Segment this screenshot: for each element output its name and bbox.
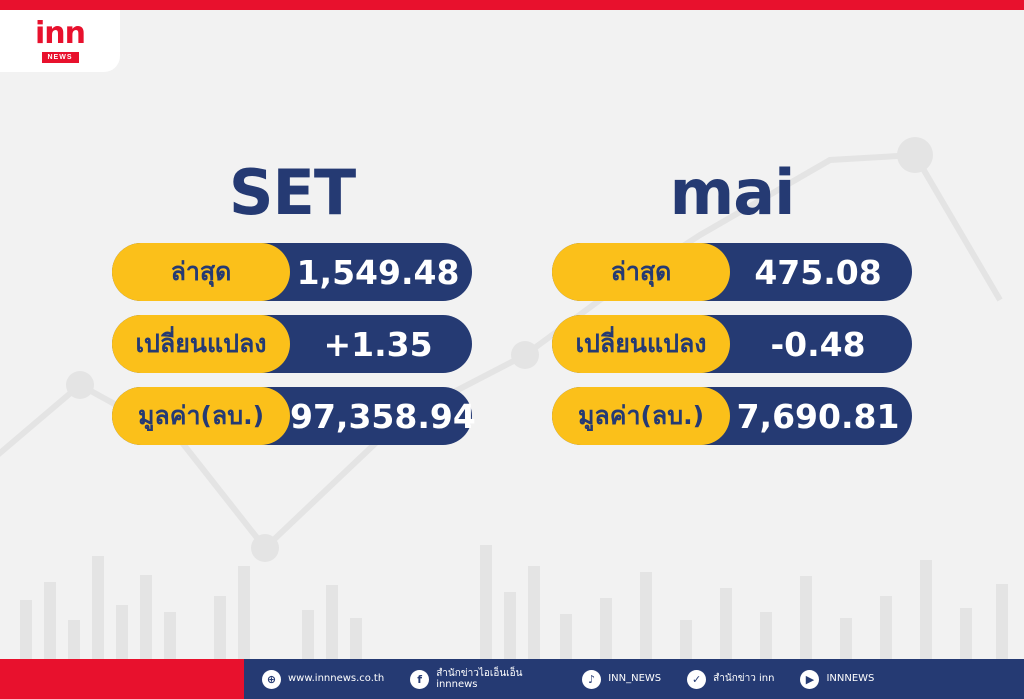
top-red-bar — [0, 0, 1024, 10]
tiktok-icon: ♪ — [582, 670, 601, 689]
set-value-value: 97,358.94 — [290, 397, 482, 436]
mai-row-value: มูลค่า(ลบ.) 7,690.81 — [552, 387, 912, 445]
logo-subtitle: NEWS — [42, 52, 79, 63]
globe-icon: ⊕ — [262, 670, 281, 689]
social-links: ⊕ www.innnews.co.th f สำนักข่าวไอเอ็นเอ็… — [244, 668, 874, 691]
set-row-last: ล่าสุด 1,549.48 — [112, 243, 472, 301]
set-value-change: +1.35 — [290, 325, 472, 364]
twitter-icon: ✓ — [687, 670, 706, 689]
social-website[interactable]: ⊕ www.innnews.co.th — [262, 670, 384, 689]
mai-label-value: มูลค่า(ลบ.) — [552, 387, 730, 445]
social-facebook[interactable]: f สำนักข่าวไอเอ็นเอ็น innnews — [410, 668, 556, 691]
market-title-set: SET — [229, 160, 355, 225]
footer-red-block — [0, 659, 244, 699]
mai-label-change: เปลี่ยนแปลง — [552, 315, 730, 373]
set-value-last: 1,549.48 — [290, 253, 472, 292]
market-title-mai: mai — [670, 160, 795, 225]
market-panel-mai: mai ล่าสุด 475.08 เปลี่ยนแปลง -0.48 มูลค… — [532, 160, 932, 459]
mai-row-change: เปลี่ยนแปลง -0.48 — [552, 315, 912, 373]
set-label-change: เปลี่ยนแปลง — [112, 315, 290, 373]
facebook-icon: f — [410, 670, 429, 689]
mai-value-value: 7,690.81 — [730, 397, 912, 436]
set-label-last: ล่าสุด — [112, 243, 290, 301]
social-youtube[interactable]: ▶ INNNEWS — [800, 670, 874, 689]
social-tiktok-label: INN_NEWS — [608, 673, 661, 685]
social-twitter[interactable]: ✓ สำนักข่าว inn — [687, 670, 774, 689]
social-facebook-label: สำนักข่าวไอเอ็นเอ็น innnews — [436, 668, 556, 691]
footer-bar: ⊕ www.innnews.co.th f สำนักข่าวไอเอ็นเอ็… — [0, 659, 1024, 699]
mai-value-change: -0.48 — [730, 325, 912, 364]
mai-row-last: ล่าสุด 475.08 — [552, 243, 912, 301]
logo-wordmark: inn — [35, 19, 85, 49]
set-row-change: เปลี่ยนแปลง +1.35 — [112, 315, 472, 373]
market-panel-set: SET ล่าสุด 1,549.48 เปลี่ยนแปลง +1.35 มู… — [92, 160, 492, 459]
mai-label-last: ล่าสุด — [552, 243, 730, 301]
youtube-icon: ▶ — [800, 670, 819, 689]
logo: inn NEWS — [0, 10, 120, 72]
social-tiktok[interactable]: ♪ INN_NEWS — [582, 670, 661, 689]
set-row-value: มูลค่า(ลบ.) 97,358.94 — [112, 387, 472, 445]
stock-summary-card: inn NEWS SET ล่าสุด 1,549.48 เปลี่ยนแปลง… — [0, 0, 1024, 699]
set-label-value: มูลค่า(ลบ.) — [112, 387, 290, 445]
social-youtube-label: INNNEWS — [826, 673, 874, 685]
social-twitter-label: สำนักข่าว inn — [713, 673, 774, 685]
market-panels: SET ล่าสุด 1,549.48 เปลี่ยนแปลง +1.35 มู… — [0, 160, 1024, 459]
social-website-label: www.innnews.co.th — [288, 673, 384, 685]
mai-value-last: 475.08 — [730, 253, 912, 292]
